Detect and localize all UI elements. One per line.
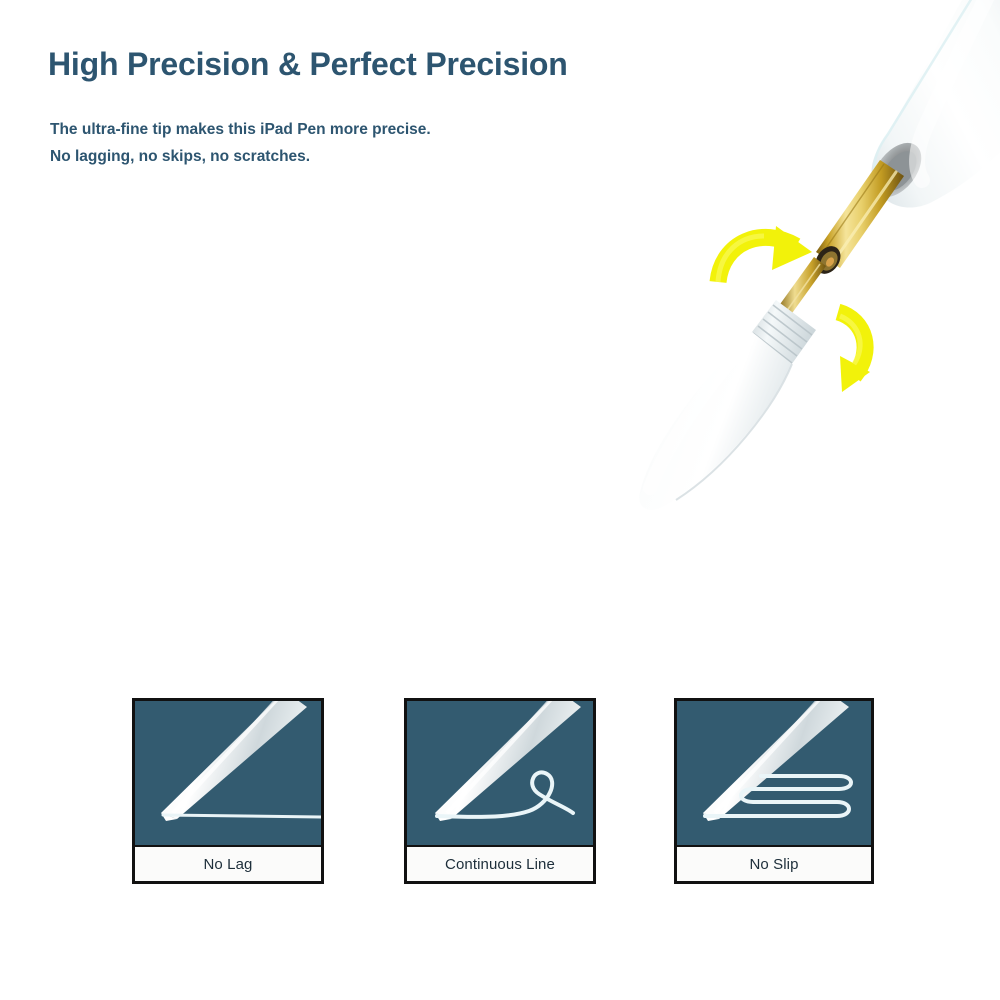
product-feature-page: High Precision & Perfect Precision The u… [0,0,1000,1000]
feature-panel-row: No Lag [132,698,872,886]
rotation-arrow-lower-right [838,312,870,392]
panel-label-no-lag: No Lag [135,845,321,881]
page-title: High Precision & Perfect Precision [48,46,568,83]
feature-panel-continuous-line: Continuous Line [404,698,596,884]
no-slip-illustration [677,701,871,847]
feature-panel-no-lag: No Lag [132,698,324,884]
subcopy-line-2: No lagging, no skips, no scratches. [50,143,431,170]
white-tip-cone [639,300,816,510]
panel-label-no-slip: No Slip [677,845,871,881]
no-lag-illustration [135,701,321,847]
feature-panel-no-slip: No Slip [674,698,874,884]
hero-product-image [540,0,1000,520]
subcopy-line-1: The ultra-fine tip makes this iPad Pen m… [50,116,431,143]
continuous-line-illustration [407,701,593,847]
subcopy-block: The ultra-fine tip makes this iPad Pen m… [50,116,431,170]
gold-shaft [810,160,904,279]
rotation-arrow-upper-left [718,226,812,282]
panel-label-continuous-line: Continuous Line [407,845,593,881]
